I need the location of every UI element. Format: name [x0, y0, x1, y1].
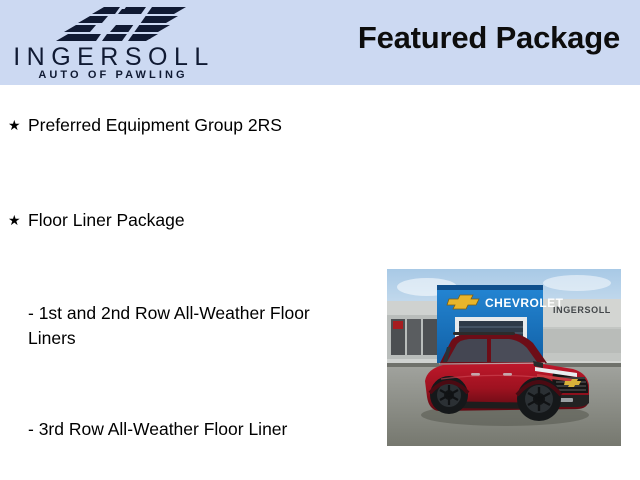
ingersoll-winged-emblem-icon [46, 5, 196, 43]
content-area: ★ Preferred Equipment Group 2RS ★ Floor … [0, 85, 640, 480]
sub-list-item-label: - 1st and 2nd Row All-Weather Floor Line… [28, 303, 310, 348]
logo-wordmark: INGERSOLL [8, 43, 220, 71]
vehicle-photo: INGERSOLL CHEVROLET [387, 269, 621, 446]
header-band: INGERSOLL AUTO OF PAWLING Featured Packa… [0, 0, 640, 85]
svg-text:CHEVROLET: CHEVROLET [485, 296, 564, 310]
list-item: ★ Floor Liner Package [8, 208, 378, 233]
list-item-label: Floor Liner Package [28, 208, 185, 233]
sub-list-item: - 1st and 2nd Row All-Weather Floor Line… [28, 301, 346, 351]
sub-list-item: - 3rd Row All-Weather Floor Liner [28, 417, 346, 442]
list-item: ★ Preferred Equipment Group 2RS [8, 113, 378, 138]
star-bullet-icon: ★ [8, 113, 28, 138]
vehicle-photo-graphic: INGERSOLL CHEVROLET [387, 269, 621, 446]
sub-list-item-label: - 3rd Row All-Weather Floor Liner [28, 419, 287, 439]
logo-tagline: AUTO OF PAWLING [8, 69, 218, 82]
brand-logo: INGERSOLL AUTO OF PAWLING [8, 2, 220, 84]
list-item-label: Preferred Equipment Group 2RS [28, 113, 282, 138]
star-bullet-icon: ★ [8, 208, 28, 233]
page-title: Featured Package [358, 20, 620, 56]
